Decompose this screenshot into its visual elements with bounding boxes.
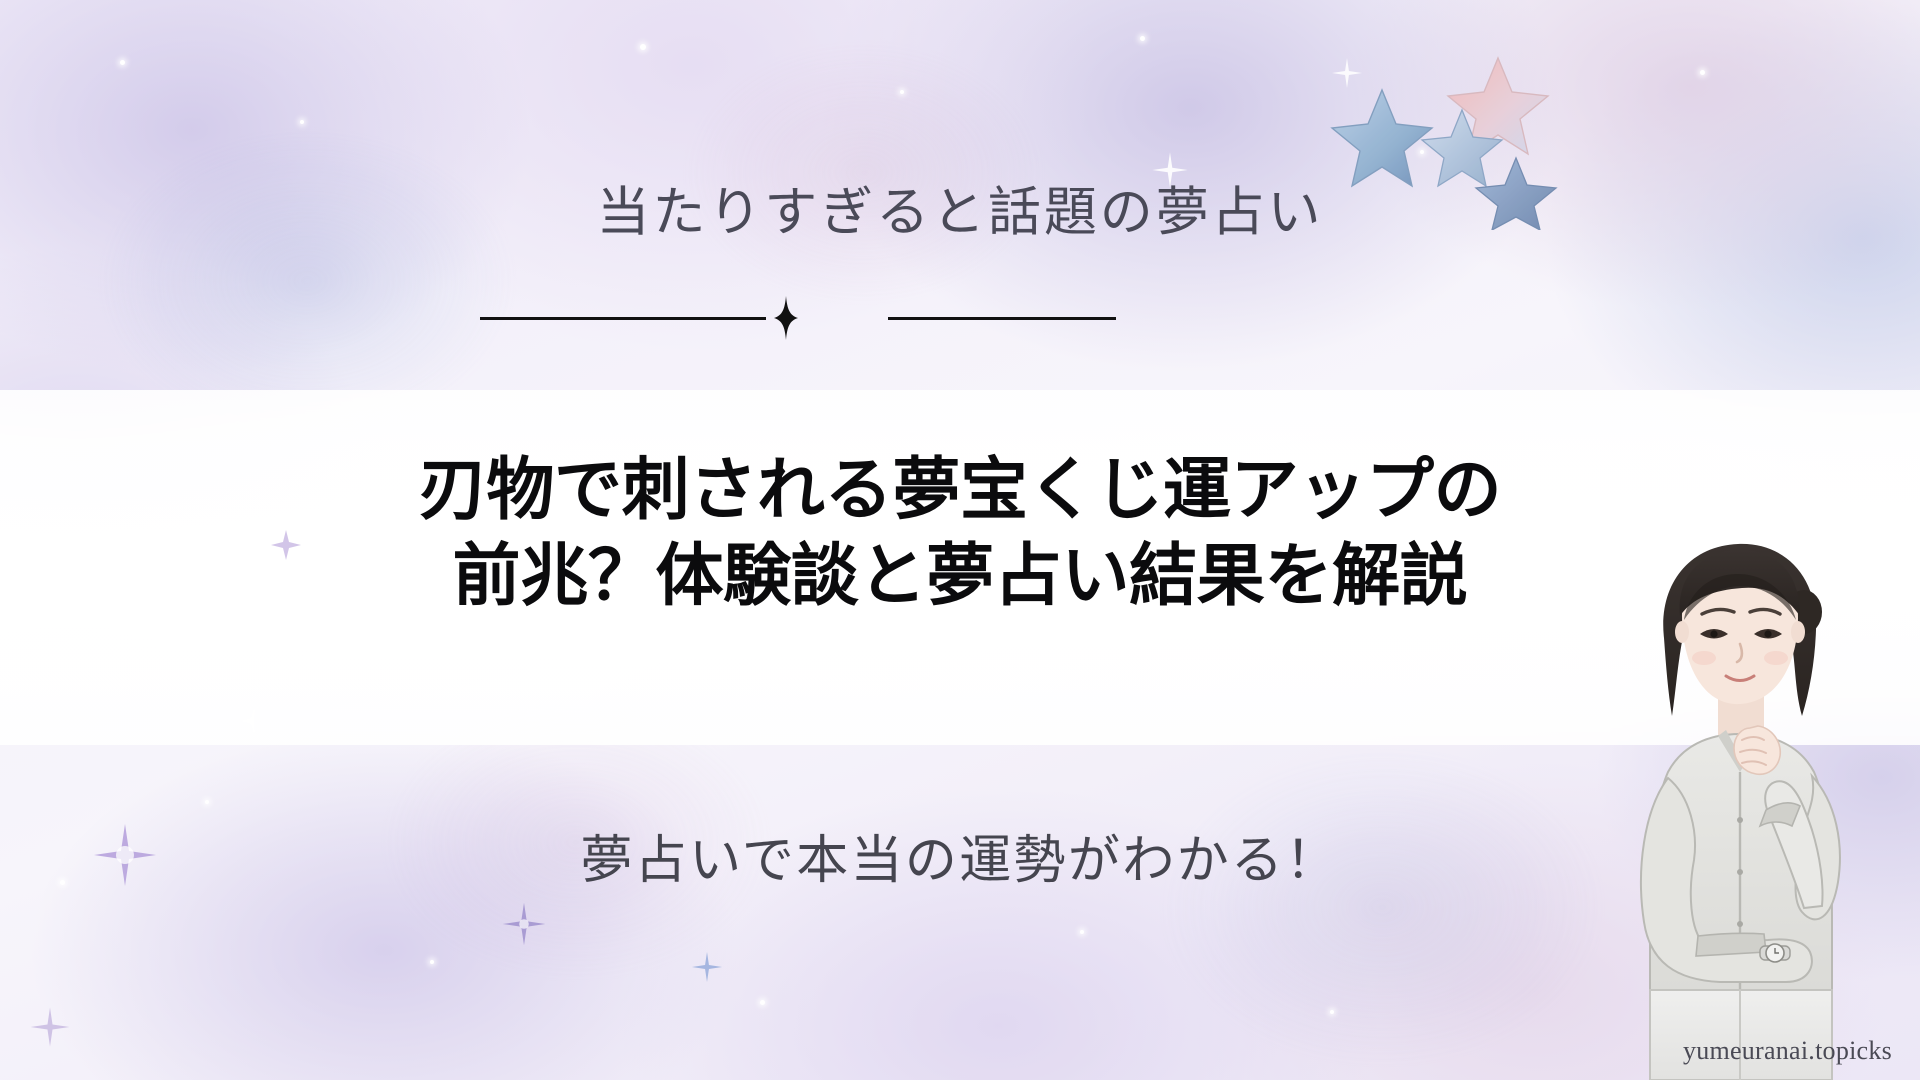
site-watermark: yumeuranai.topicks bbox=[1683, 1036, 1892, 1066]
four-point-sparkle-icon bbox=[764, 296, 808, 340]
divider-line-right bbox=[888, 317, 1116, 320]
divider-line-left bbox=[480, 317, 766, 320]
divider bbox=[480, 300, 1116, 336]
page-eyebrow: 当たりすぎると話題の夢占い bbox=[0, 170, 1920, 246]
thumbnail-canvas: 当たりすぎると話題の夢占い bbox=[0, 0, 1920, 1080]
woman-illustration bbox=[1572, 520, 1912, 1080]
page-title-line-1: 刃物で刺される夢宝くじ運アップの bbox=[419, 452, 1502, 528]
